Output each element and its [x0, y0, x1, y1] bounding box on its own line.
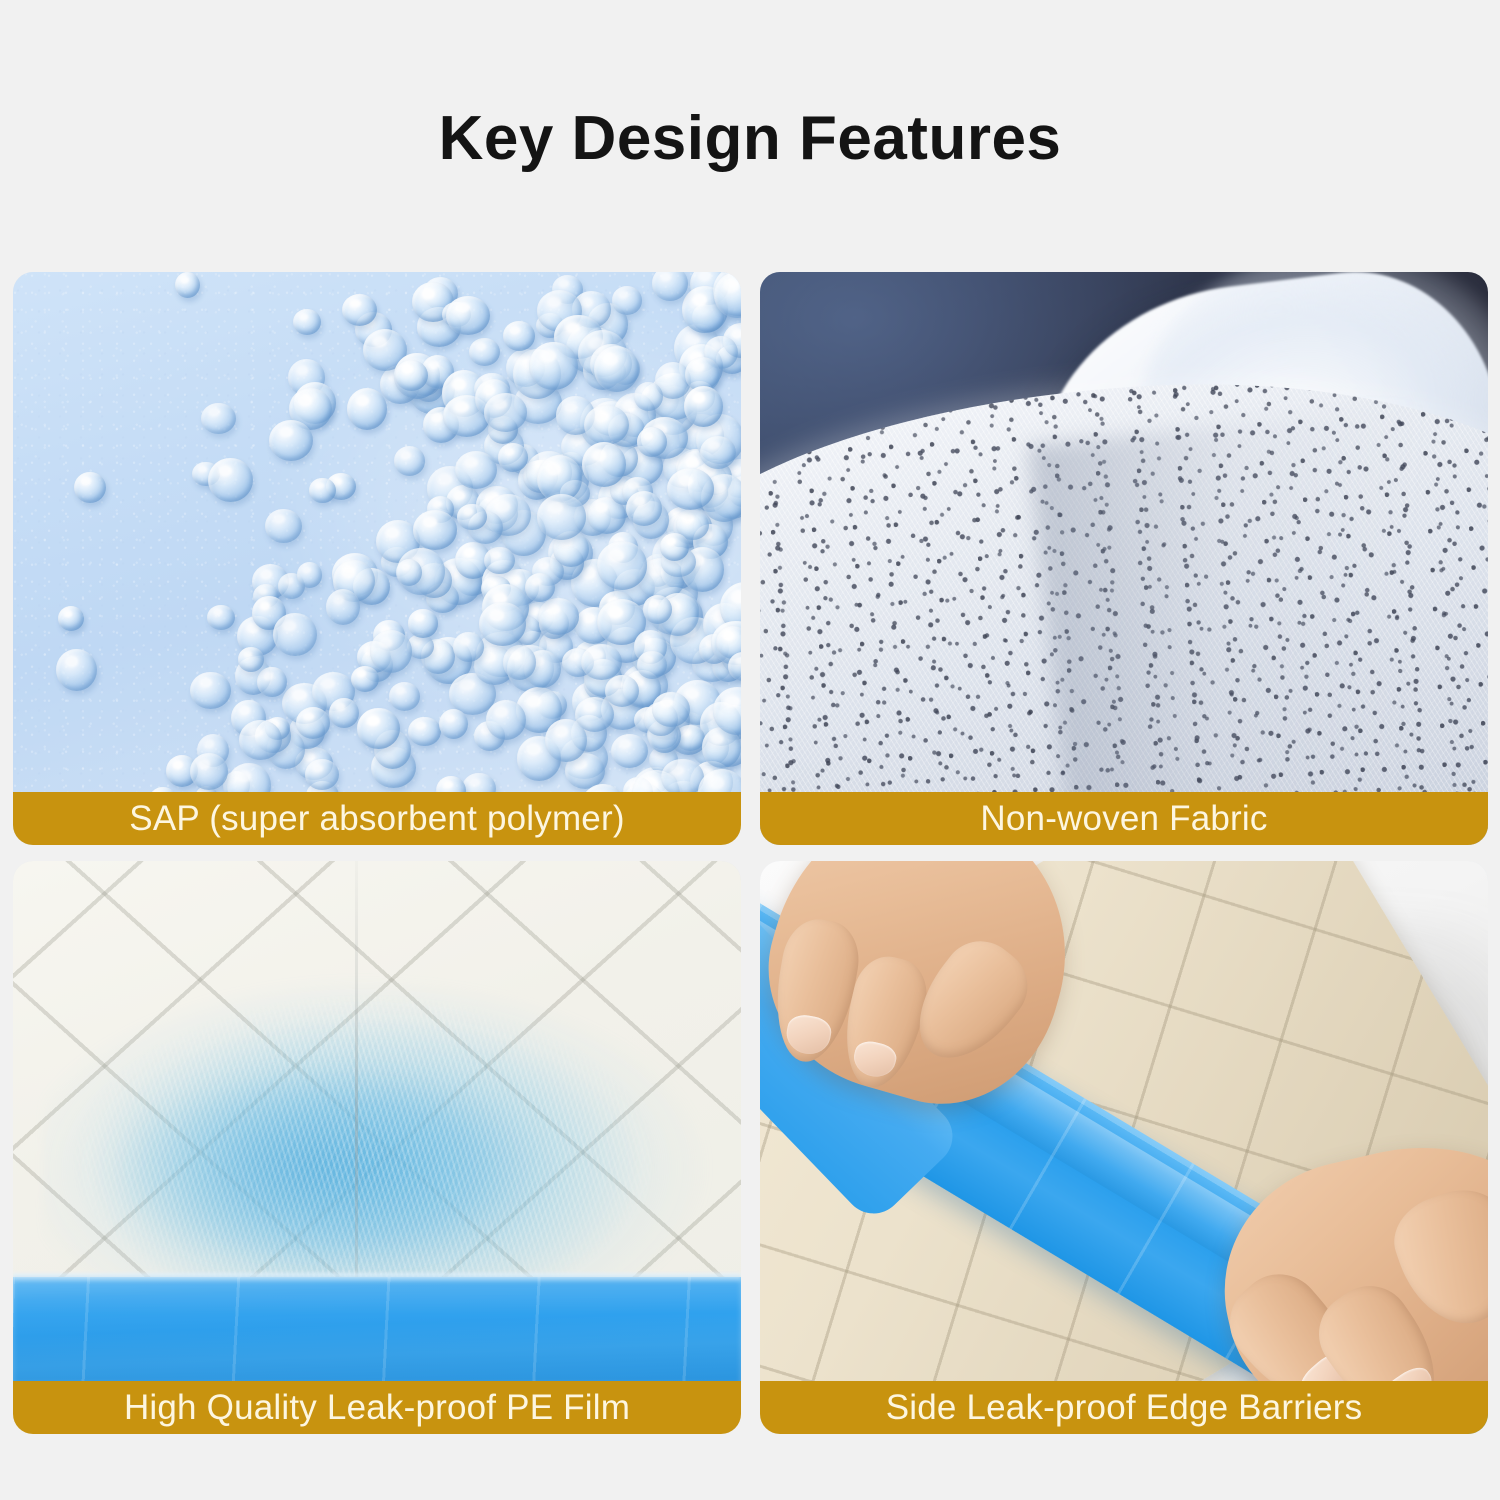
sap-bead: [469, 338, 499, 366]
sap-bead: [293, 309, 321, 335]
sap-bead: [326, 589, 361, 626]
sap-bead: [74, 472, 106, 503]
sap-bead-cluster: [13, 272, 741, 845]
sap-bead: [612, 286, 642, 314]
pe-film-strip: [13, 1277, 741, 1381]
sap-bead: [296, 707, 330, 739]
feature-card-edge-barriers[interactable]: Side Leak-proof Edge Barriers: [760, 861, 1488, 1434]
sap-bead: [175, 272, 200, 298]
sap-bead: [700, 436, 736, 469]
page-title: Key Design Features: [0, 108, 1500, 170]
sap-bead: [58, 606, 84, 631]
non-woven-fabric-photo: [760, 272, 1488, 845]
caption-label-edge-barriers: Side Leak-proof Edge Barriers: [886, 1390, 1363, 1425]
sap-bead: [446, 296, 490, 335]
sap-bead: [457, 504, 486, 531]
feature-card-non-woven-fabric[interactable]: Non-woven Fabric: [760, 272, 1488, 845]
sap-bead: [394, 446, 426, 476]
sap-bead: [582, 442, 626, 487]
sap-bead: [273, 613, 317, 656]
sap-bead: [484, 393, 528, 432]
sap-bead: [408, 717, 440, 747]
sap-bead: [238, 647, 265, 672]
nonwoven-fold-shadow: [1028, 399, 1488, 845]
sap-bead: [257, 667, 286, 697]
pe-film-photo: [13, 861, 741, 1434]
feature-grid: SAP (super absorbent polymer) Non-woven …: [13, 272, 1488, 1434]
sap-bead: [634, 382, 663, 412]
sap-bead: [455, 451, 497, 489]
caption-bar-sap: SAP (super absorbent polymer): [13, 792, 741, 845]
sap-bead: [594, 346, 640, 393]
feature-card-sap[interactable]: SAP (super absorbent polymer): [13, 272, 741, 845]
sap-bead: [684, 386, 723, 427]
edge-barriers-photo: [760, 861, 1488, 1434]
sap-bead: [537, 494, 586, 540]
sap-bead: [413, 510, 457, 549]
sap-bead: [661, 759, 703, 797]
sap-bead: [439, 709, 468, 739]
sap-bead: [389, 682, 420, 710]
fingernail-middle-top: [850, 1038, 899, 1081]
sap-photo: [13, 272, 741, 845]
sap-bead: [637, 651, 667, 679]
caption-label-sap: SAP (super absorbent polymer): [129, 801, 624, 836]
sap-bead: [201, 403, 237, 435]
fingernail-index-top: [783, 1013, 833, 1057]
caption-label-non-woven-fabric: Non-woven Fabric: [980, 801, 1267, 836]
sap-bead: [453, 632, 484, 662]
sap-bead: [207, 605, 234, 630]
sap-bead: [503, 321, 536, 351]
sap-bead: [581, 644, 622, 680]
sap-bead: [269, 420, 313, 461]
sap-bead: [643, 595, 672, 624]
caption-label-pe-film: High Quality Leak-proof PE Film: [124, 1390, 630, 1425]
sap-bead: [652, 692, 689, 727]
sap-bead: [190, 672, 231, 710]
sap-bead: [525, 573, 555, 602]
sap-bead: [56, 649, 97, 692]
sap-bead: [208, 458, 253, 502]
sap-bead: [297, 562, 322, 587]
caption-bar-non-woven-fabric: Non-woven Fabric: [760, 792, 1488, 845]
sap-bead: [611, 734, 648, 769]
sap-bead: [342, 294, 377, 326]
sap-bead: [597, 541, 647, 589]
sap-bead: [605, 675, 639, 707]
sap-bead: [660, 533, 690, 561]
sap-bead: [357, 708, 400, 749]
sap-bead: [637, 427, 667, 457]
sap-bead: [351, 666, 380, 693]
sap-bead: [305, 759, 339, 790]
sap-bead: [370, 630, 412, 672]
sap-bead: [395, 360, 428, 391]
infographic-page: Key Design Features SAP (super absorbent…: [0, 0, 1500, 1500]
caption-bar-pe-film: High Quality Leak-proof PE Film: [13, 1381, 741, 1434]
sap-bead: [329, 698, 359, 728]
sap-bead: [529, 342, 578, 391]
sap-bead: [626, 491, 662, 526]
caption-bar-edge-barriers: Side Leak-proof Edge Barriers: [760, 1381, 1488, 1434]
sap-bead: [538, 598, 579, 634]
sap-bead: [652, 272, 688, 301]
sap-bead: [486, 700, 527, 741]
sap-bead: [190, 753, 228, 790]
sap-bead: [347, 388, 387, 430]
sap-bead: [408, 609, 437, 637]
feature-card-pe-film[interactable]: High Quality Leak-proof PE Film: [13, 861, 741, 1434]
sap-bead: [484, 547, 514, 574]
sap-bead: [309, 478, 335, 503]
pe-film-creases: [13, 1277, 741, 1381]
sap-bead: [667, 468, 714, 510]
sap-bead: [265, 509, 302, 543]
